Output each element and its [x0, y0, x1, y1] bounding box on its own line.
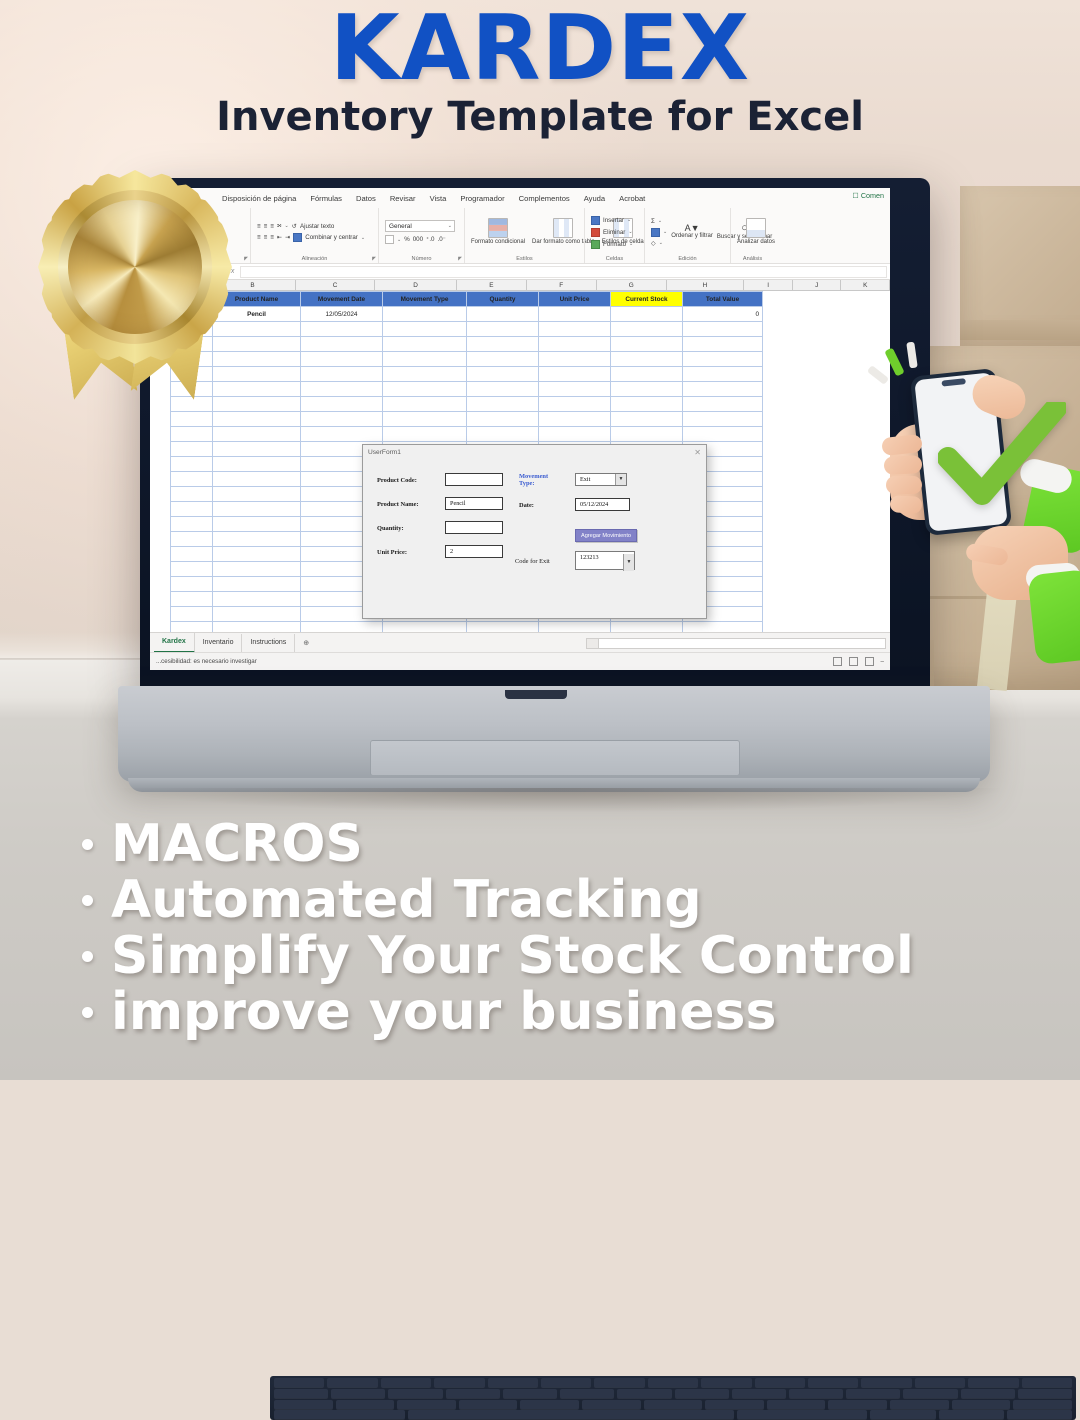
cell-empty[interactable] — [683, 427, 763, 442]
bullet-dot-icon — [82, 895, 93, 906]
poster-title-block: KARDEX Inventory Template for Excel — [0, 6, 1080, 138]
column-header-c[interactable]: C — [296, 280, 376, 290]
cell-empty[interactable] — [301, 622, 383, 633]
align-middle-icon[interactable]: ≡ — [264, 223, 268, 230]
cell-empty[interactable] — [171, 622, 213, 633]
align-bottom-icon[interactable]: ≡ — [270, 223, 274, 230]
ribbon-group-label-editing: Edición — [645, 256, 730, 262]
cell-unit-price[interactable] — [539, 307, 611, 322]
orientation-icon[interactable]: ⟕ — [277, 222, 282, 230]
normal-view-icon[interactable] — [833, 657, 842, 666]
ribbon-tab-addins[interactable]: Complementos — [519, 194, 570, 203]
page-title: KARDEX — [0, 6, 1080, 92]
cell-empty[interactable] — [213, 457, 301, 472]
column-header-j[interactable]: J — [793, 280, 842, 290]
cell-empty[interactable] — [171, 412, 213, 427]
list-item: MACROS — [82, 818, 1022, 870]
cell-empty[interactable] — [383, 412, 467, 427]
insert-cells-icon[interactable] — [591, 216, 600, 225]
ribbon-group-cells[interactable]: Insertar ⌄ Eliminar ⌄ Formato ⌄ — [584, 208, 644, 263]
analyze-data-button[interactable]: Analizar datos — [737, 218, 775, 245]
ribbon-group-label-alignment: Alineación — [251, 256, 378, 262]
cell-empty[interactable] — [171, 607, 213, 622]
conditional-formatting-button[interactable]: Formato condicional — [471, 218, 525, 245]
increase-decimal-icon[interactable]: ⁺.0 — [426, 236, 434, 243]
horizontal-scrollbar[interactable] — [586, 638, 886, 649]
cell-empty[interactable] — [611, 382, 683, 397]
font-dialog-launcher-icon[interactable]: ◤ — [244, 256, 248, 262]
badge-center-disc — [68, 200, 202, 334]
ribbon-group-alignment[interactable]: ≡ ≡ ≡ ⟕ ⌄ ↺ Ajustar texto ≡ ≡ ≡ ⇤ — [250, 208, 378, 263]
cell-empty[interactable] — [383, 322, 467, 337]
number-format-value: General — [389, 223, 412, 230]
green-sleeve — [1027, 569, 1080, 665]
analyze-data-icon — [746, 218, 766, 238]
column-header-g[interactable]: G — [597, 280, 667, 290]
empty-grid-area[interactable] — [767, 291, 890, 632]
cell-empty[interactable] — [683, 622, 763, 633]
cell-empty[interactable] — [611, 427, 683, 442]
userform-dialog[interactable]: UserForm1 ✕ Product Code: Product Name: … — [362, 444, 707, 619]
cell-empty[interactable] — [171, 532, 213, 547]
clear-icon[interactable]: ◇ — [651, 240, 656, 247]
conditional-formatting-icon — [488, 218, 508, 238]
formula-input[interactable] — [240, 266, 887, 278]
ribbon-group-styles[interactable]: Formato condicional Dar formato como tab… — [464, 208, 584, 263]
close-icon[interactable]: ✕ — [694, 448, 701, 457]
analyze-data-label: Analizar datos — [737, 239, 775, 245]
code-for-exit-select[interactable]: 123213 ▼ — [575, 551, 635, 570]
cell-empty[interactable] — [539, 622, 611, 633]
cell-empty[interactable] — [611, 352, 683, 367]
list-item: Automated Tracking — [82, 874, 1022, 926]
product-code-label: Product Code: — [377, 477, 417, 484]
page-subtitle: Inventory Template for Excel — [0, 96, 1080, 138]
sheet-tab-kardex[interactable]: Kardex — [154, 633, 195, 653]
cell-empty[interactable] — [171, 562, 213, 577]
cell-empty[interactable] — [467, 352, 539, 367]
ribbon-group-label-analysis: Análisis — [731, 256, 774, 262]
number-dialog-launcher-icon[interactable]: ◤ — [458, 256, 462, 262]
quantity-label: Quantity: — [377, 525, 404, 532]
cell-empty[interactable] — [611, 397, 683, 412]
table-row[interactable] — [171, 427, 763, 442]
alignment-dialog-launcher-icon[interactable]: ◤ — [372, 256, 376, 262]
cell-empty[interactable] — [171, 397, 213, 412]
cell-empty[interactable] — [301, 352, 383, 367]
cell-empty[interactable] — [383, 352, 467, 367]
column-header-k[interactable]: K — [841, 280, 890, 290]
cell-empty[interactable] — [213, 412, 301, 427]
header-unit-price: Unit Price — [539, 292, 611, 307]
cell-empty[interactable] — [171, 502, 213, 517]
cell-empty[interactable] — [213, 562, 301, 577]
fill-series-icon[interactable] — [651, 228, 660, 237]
cell-empty[interactable] — [683, 412, 763, 427]
ribbon-group-editing[interactable]: Σ⌄ ⌄ ◇⌄ A▼ Ordenar y filtrar ○ Buscar y … — [644, 208, 730, 263]
autosum-icon[interactable]: Σ — [651, 218, 655, 225]
cell-empty[interactable] — [467, 397, 539, 412]
green-checkmark-icon — [938, 402, 1066, 512]
laptop-keyboard — [270, 1376, 1076, 1420]
spreadsheet-grid[interactable]: B C D E F G H I J K Product Name Movemen… — [150, 280, 890, 632]
gold-award-badge-icon — [30, 168, 240, 383]
format-as-table-icon — [553, 218, 573, 238]
cell-empty[interactable] — [383, 427, 467, 442]
cell-empty[interactable] — [383, 622, 467, 633]
column-header-f[interactable]: F — [527, 280, 597, 290]
table-row[interactable] — [171, 412, 763, 427]
list-item: Simplify Your Stock Control — [82, 930, 1022, 982]
sheet-tab-inventario[interactable]: Inventario — [195, 634, 243, 652]
cell-empty[interactable] — [383, 397, 467, 412]
sparkle-green-icon — [884, 347, 904, 376]
merge-center-label[interactable]: Combinar y centrar — [305, 234, 358, 241]
cell-empty[interactable] — [213, 622, 301, 633]
cell-empty[interactable] — [171, 592, 213, 607]
cell-empty[interactable] — [467, 622, 539, 633]
align-top-icon[interactable]: ≡ — [257, 223, 261, 230]
cell-empty[interactable] — [213, 607, 301, 622]
cell-empty[interactable] — [539, 322, 611, 337]
cell-empty[interactable] — [213, 472, 301, 487]
cell-empty[interactable] — [171, 472, 213, 487]
ribbon-tab-acrobat[interactable]: Acrobat — [619, 194, 645, 203]
unit-price-label: Unit Price: — [377, 549, 407, 556]
cell-empty[interactable] — [467, 322, 539, 337]
bullet-label: improve your business — [111, 986, 776, 1038]
column-header-row[interactable]: B C D E F G H I J K — [150, 280, 890, 291]
cell-movement-date[interactable]: 12/05/2024 — [301, 307, 383, 322]
accessibility-status-text: ...cesibilidad: es necesario investigar — [156, 658, 257, 665]
ribbon-tab-data[interactable]: Datos — [356, 194, 376, 203]
cell-empty[interactable] — [213, 502, 301, 517]
unit-price-input[interactable]: 2 — [445, 545, 503, 558]
format-cells-label[interactable]: Formato — [603, 241, 626, 248]
sort-filter-icon: A▼ — [671, 224, 713, 233]
add-sheet-icon[interactable]: ⊕ — [295, 639, 317, 647]
cell-total-value[interactable]: 0 — [683, 307, 763, 322]
header-movement-date: Movement Date — [301, 292, 383, 307]
cell-empty[interactable] — [213, 397, 301, 412]
cell-empty[interactable] — [383, 337, 467, 352]
comment-bubble-icon: ☐ — [852, 191, 858, 200]
cell-empty[interactable] — [213, 382, 301, 397]
cell-current-stock[interactable] — [611, 307, 683, 322]
view-controls[interactable]: – — [833, 657, 884, 666]
table-row[interactable]: 123 Pencil 12/05/2024 0 — [171, 307, 763, 322]
cell-empty[interactable] — [171, 487, 213, 502]
header-total-value: Total Value — [683, 292, 763, 307]
clear-caret-icon[interactable]: ⌄ — [659, 240, 663, 246]
delete-cells-icon[interactable] — [591, 228, 600, 237]
column-header-i[interactable]: I — [744, 280, 793, 290]
table-row[interactable] — [171, 337, 763, 352]
userform-titlebar: UserForm1 ✕ — [363, 445, 706, 459]
cell-empty[interactable] — [467, 382, 539, 397]
cell-empty[interactable] — [213, 442, 301, 457]
cell-empty[interactable] — [683, 352, 763, 367]
cell-empty[interactable] — [611, 412, 683, 427]
cell-quantity[interactable] — [467, 307, 539, 322]
ribbon-tab-review[interactable]: Revisar — [390, 194, 416, 203]
bullet-label: MACROS — [111, 818, 363, 870]
ribbon-group-label-number: Número — [379, 256, 464, 262]
cell-empty[interactable] — [171, 547, 213, 562]
align-left-icon[interactable]: ≡ — [257, 234, 261, 241]
accounting-caret-icon[interactable]: ⌄ — [397, 237, 401, 243]
cell-empty[interactable] — [611, 367, 683, 382]
cell-empty[interactable] — [301, 337, 383, 352]
fill-caret-icon[interactable]: ⌄ — [663, 229, 667, 235]
ribbon-group-label-cells: Celdas — [585, 256, 644, 262]
laptop-shadow — [120, 788, 1000, 812]
cell-empty[interactable] — [171, 517, 213, 532]
conditional-formatting-label: Formato condicional — [471, 239, 525, 245]
ribbon-tab-help[interactable]: Ayuda — [584, 194, 605, 203]
cell-empty[interactable] — [171, 577, 213, 592]
number-format-caret-icon[interactable]: ⌄ — [448, 223, 452, 229]
format-caret-icon[interactable]: ⌄ — [629, 241, 633, 247]
table-row[interactable] — [171, 382, 763, 397]
cell-empty[interactable] — [301, 412, 383, 427]
excel-application-window: Disposición de página Fórmulas Datos Rev… — [150, 188, 890, 670]
cell-empty[interactable] — [683, 337, 763, 352]
sort-filter-button[interactable]: A▼ Ordenar y filtrar — [671, 224, 713, 239]
orientation-caret-icon[interactable]: ⌄ — [285, 223, 289, 229]
autosum-caret-icon[interactable]: ⌄ — [658, 218, 662, 224]
comma-format-icon[interactable]: 000 — [413, 236, 423, 243]
ribbon-tab-view[interactable]: Vista — [430, 194, 447, 203]
insert-cells-label[interactable]: Insertar — [603, 217, 624, 224]
column-header-e[interactable]: E — [457, 280, 527, 290]
ribbon-group-label-styles: Estilos — [465, 256, 584, 262]
movement-type-select[interactable]: Exit ▼ — [575, 473, 627, 486]
merge-caret-icon[interactable]: ⌄ — [361, 235, 365, 241]
sheet-tab-instructions[interactable]: Instructions — [242, 634, 295, 652]
align-center-icon[interactable]: ≡ — [264, 234, 268, 241]
cell-empty[interactable] — [383, 382, 467, 397]
cell-empty[interactable] — [171, 427, 213, 442]
cell-empty[interactable] — [171, 442, 213, 457]
ribbon-tab-bar[interactable]: Disposición de página Fórmulas Datos Rev… — [150, 188, 890, 208]
cell-empty[interactable] — [467, 412, 539, 427]
ribbon-group-analysis[interactable]: Analizar datos Análisis — [730, 208, 774, 263]
comments-label: Comen — [861, 191, 884, 200]
cell-empty[interactable] — [301, 322, 383, 337]
decrease-decimal-icon[interactable]: .0⁻ — [437, 236, 445, 243]
date-input[interactable]: 05/12/2024 — [575, 498, 630, 511]
table-row[interactable] — [171, 322, 763, 337]
table-row[interactable] — [171, 352, 763, 367]
code-for-exit-value: 123213 — [580, 554, 599, 561]
delete-caret-icon[interactable]: ⌄ — [628, 229, 632, 235]
cell-empty[interactable] — [683, 382, 763, 397]
cell-empty[interactable] — [301, 382, 383, 397]
cell-empty[interactable] — [301, 397, 383, 412]
formula-bar[interactable]: ✓ fx — [150, 264, 890, 280]
cell-empty[interactable] — [383, 367, 467, 382]
cell-empty[interactable] — [213, 577, 301, 592]
bullet-label: Simplify Your Stock Control — [111, 930, 914, 982]
chevron-down-icon[interactable]: ▼ — [615, 474, 626, 485]
product-name-input[interactable]: Pencil — [445, 497, 503, 510]
product-name-label: Product Name: — [377, 501, 419, 508]
cell-empty[interactable] — [213, 517, 301, 532]
cell-empty[interactable] — [467, 337, 539, 352]
ribbon-tab-formulas[interactable]: Fórmulas — [310, 194, 342, 203]
ribbon-tab-developer[interactable]: Programador — [460, 194, 504, 203]
bullet-dot-icon — [82, 839, 93, 850]
cardboard-box-flap — [960, 320, 1080, 340]
cell-empty[interactable] — [213, 532, 301, 547]
header-quantity: Quantity — [467, 292, 539, 307]
table-row[interactable] — [171, 397, 763, 412]
cell-empty[interactable] — [611, 622, 683, 633]
cell-empty[interactable] — [213, 547, 301, 562]
cell-empty[interactable] — [539, 382, 611, 397]
cell-empty[interactable] — [611, 337, 683, 352]
ribbon[interactable]: ⌄ 11 ⌄ A↑ A↓ ⌄ ⌄ ⌄ — [150, 208, 890, 264]
finger — [886, 476, 922, 494]
cell-empty[interactable] — [683, 397, 763, 412]
column-header-h[interactable]: H — [667, 280, 745, 290]
delete-cells-label[interactable]: Eliminar — [603, 229, 625, 236]
cell-empty[interactable] — [683, 367, 763, 382]
page-layout-icon[interactable] — [849, 657, 858, 666]
hand-holding-phone-illustration — [880, 350, 1080, 690]
cell-movement-type[interactable] — [383, 307, 467, 322]
insert-caret-icon[interactable]: ⌄ — [627, 217, 631, 223]
cell-empty[interactable] — [539, 397, 611, 412]
movement-type-label: Movement Type: — [519, 473, 565, 488]
cell-empty[interactable] — [213, 592, 301, 607]
cell-empty[interactable] — [301, 367, 383, 382]
cell-empty[interactable] — [213, 427, 301, 442]
cell-empty[interactable] — [539, 427, 611, 442]
table-row[interactable] — [171, 367, 763, 382]
align-right-icon[interactable]: ≡ — [270, 234, 274, 241]
wrap-text-icon[interactable]: ↺ — [292, 223, 297, 230]
feature-bullet-list: MACROS Automated Tracking Simplify Your … — [82, 818, 1022, 1042]
comments-button[interactable]: ☐ Comen — [852, 191, 884, 200]
bullet-dot-icon — [82, 951, 93, 962]
laptop-trackpad — [370, 740, 740, 776]
cell-empty[interactable] — [301, 427, 383, 442]
wrap-text-label[interactable]: Ajustar texto — [300, 223, 334, 230]
cell-empty[interactable] — [467, 367, 539, 382]
finger — [884, 455, 923, 475]
sort-filter-label: Ordenar y filtrar — [671, 233, 713, 239]
percent-format-icon[interactable]: % — [404, 236, 410, 243]
merge-center-icon[interactable] — [293, 233, 302, 242]
table-row[interactable] — [171, 622, 763, 633]
product-code-input[interactable] — [445, 473, 503, 486]
status-bar: ...cesibilidad: es necesario investigar … — [150, 652, 890, 670]
cell-empty[interactable] — [467, 427, 539, 442]
cell-empty[interactable] — [611, 322, 683, 337]
header-current-stock: Current Stock — [611, 292, 683, 307]
format-cells-icon[interactable] — [591, 240, 600, 249]
increase-indent-icon[interactable]: ⇥ — [285, 234, 290, 241]
cell-empty[interactable] — [539, 337, 611, 352]
add-movement-button[interactable]: Agregar Movimiento — [575, 529, 637, 542]
bullet-label: Automated Tracking — [111, 874, 702, 926]
table-header-row: Product Name Movement Date Movement Type… — [171, 292, 763, 307]
header-movement-type: Movement Type — [383, 292, 467, 307]
cell-empty[interactable] — [539, 352, 611, 367]
cell-empty[interactable] — [213, 487, 301, 502]
number-format-select[interactable]: General ⌄ — [385, 220, 455, 232]
cell-empty[interactable] — [683, 322, 763, 337]
date-label: Date: — [519, 502, 534, 509]
finger — [890, 495, 923, 514]
decrease-indent-icon[interactable]: ⇤ — [277, 234, 282, 241]
page-break-icon[interactable] — [865, 657, 874, 666]
movement-type-value: Exit — [580, 476, 590, 483]
scrollbar-left-arrow[interactable] — [587, 639, 599, 648]
cell-empty[interactable] — [539, 412, 611, 427]
quantity-input[interactable] — [445, 521, 503, 534]
accounting-format-icon[interactable] — [385, 235, 394, 244]
cell-empty[interactable] — [539, 367, 611, 382]
ribbon-group-number[interactable]: General ⌄ ⌄ % 000 ⁺.0 .0⁻ Número — [378, 208, 464, 263]
laptop-screen: Disposición de página Fórmulas Datos Rev… — [150, 188, 890, 670]
cell-empty[interactable] — [171, 457, 213, 472]
bullet-dot-icon — [82, 1007, 93, 1018]
code-for-exit-label: Code for Exit — [515, 558, 550, 565]
userform-title-label: UserForm1 — [368, 449, 401, 456]
chevron-down-icon[interactable]: ▼ — [623, 554, 634, 571]
column-header-d[interactable]: D — [375, 280, 457, 290]
laptop-hinge-notch — [505, 690, 567, 699]
list-item: improve your business — [82, 986, 1022, 1038]
